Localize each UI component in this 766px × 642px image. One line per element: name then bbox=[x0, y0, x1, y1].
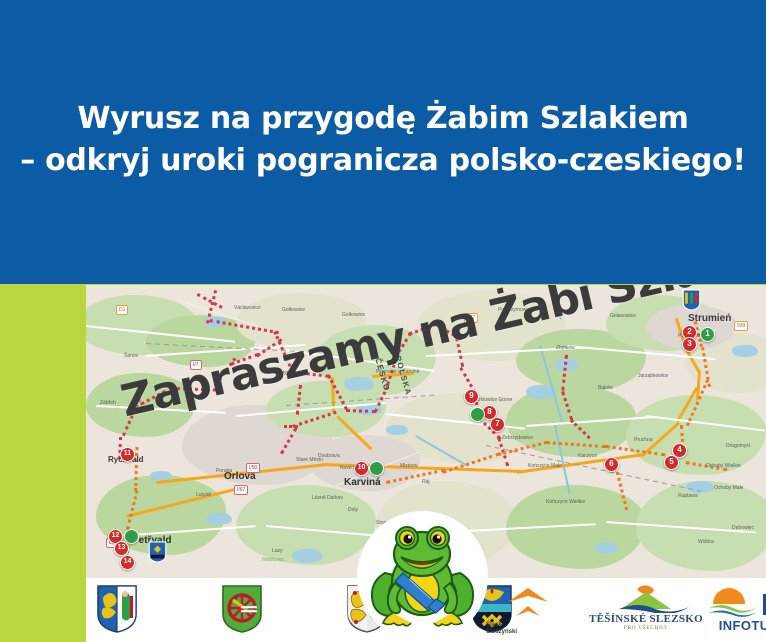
frog-icon bbox=[365, 521, 480, 633]
map-marker[interactable] bbox=[369, 461, 384, 476]
road-shield: D1 bbox=[116, 305, 128, 315]
map-label-place: Zbytków bbox=[556, 345, 575, 351]
headline-line-1: Wyrusz na przygodę Żabim Szlakiem bbox=[77, 101, 688, 136]
headline-line-2: – odkryj uroki pogranicza polsko-czeskie… bbox=[0, 140, 766, 182]
map-label-place: Staré Město bbox=[296, 457, 323, 463]
map-label-place: Gołkowice bbox=[282, 307, 305, 313]
map-label-place: Kończyce Małe bbox=[528, 463, 562, 469]
road-shield: I/50 bbox=[246, 463, 260, 473]
map-label-place: Ochaby Wielkie bbox=[706, 463, 741, 469]
map-label-place: Mizerov bbox=[400, 463, 418, 469]
map-water bbox=[386, 425, 408, 435]
green-accent-band bbox=[0, 284, 86, 642]
coat-of-arms-2-icon[interactable] bbox=[221, 584, 263, 634]
poster-root: Wyrusz na przygodę Żabim Szlakiem – odkr… bbox=[0, 0, 766, 642]
map-label-town: Strumień bbox=[688, 313, 731, 324]
eagle-mountain-icon bbox=[601, 583, 691, 613]
map-marker[interactable]: 10 bbox=[354, 461, 369, 476]
map-label-place: Ráj bbox=[422, 479, 430, 485]
map-label-place: Bąków bbox=[598, 385, 613, 391]
map-label-place: Dębowiec bbox=[732, 525, 754, 531]
map-label-place: Lutyně bbox=[196, 492, 211, 498]
map-label-place: Holotovec bbox=[262, 557, 284, 563]
map-label-place: Drogomyśl bbox=[726, 443, 750, 449]
map-label-place: Lázně Darkov bbox=[312, 495, 343, 501]
map-label-place: Lazy bbox=[272, 548, 283, 554]
map-label-place: Petrovice u Karviné bbox=[376, 369, 419, 375]
map-water bbox=[732, 345, 758, 357]
petrvald-coat-of-arms-icon bbox=[148, 541, 167, 563]
map-marker[interactable]: 1 bbox=[700, 327, 715, 342]
map-label-place: Pruchna bbox=[634, 437, 653, 443]
map-country-border bbox=[284, 425, 298, 428]
partner-logo-infotur[interactable]: INFOTUR bbox=[694, 584, 766, 633]
map-water bbox=[344, 377, 374, 391]
map-water bbox=[206, 513, 232, 525]
road-shield: 939 bbox=[734, 321, 748, 331]
map-label-place: Zebrzydowice bbox=[502, 435, 533, 441]
map-label-place: Ochaby Małe bbox=[714, 485, 743, 491]
map-label-place: Kończyce Wielkie bbox=[546, 499, 585, 505]
map-water bbox=[292, 549, 322, 563]
map-marker[interactable]: 14 bbox=[120, 555, 135, 570]
page-title: Wyrusz na przygodę Żabim Szlakiem – odkr… bbox=[0, 98, 766, 182]
map-marker[interactable]: 11 bbox=[120, 447, 135, 462]
map-water bbox=[594, 543, 618, 553]
map-label-place: Poruba bbox=[216, 468, 232, 474]
map-label-place: Václavovice bbox=[234, 305, 261, 311]
map-label-place: Wiślica bbox=[698, 539, 714, 545]
map-label-place: Jarząbkowice bbox=[638, 373, 668, 379]
frog-mascot-badge bbox=[357, 511, 488, 642]
infotur-label: INFOTUR bbox=[694, 618, 766, 633]
map-label-place: Ruptawa bbox=[678, 493, 698, 499]
map-marker[interactable] bbox=[470, 407, 485, 422]
map-label-place: Zábřeh bbox=[100, 400, 116, 406]
top-banner: Wyrusz na przygodę Żabim Szlakiem – odkr… bbox=[0, 0, 766, 284]
map-label-place: Šenov bbox=[124, 353, 138, 359]
map-marker[interactable]: 3 bbox=[682, 337, 697, 352]
map-label-place: Doly bbox=[348, 507, 358, 513]
map-marker[interactable]: 6 bbox=[604, 457, 619, 472]
map-marker[interactable]: 13 bbox=[114, 541, 129, 556]
map-label-town: Karviná bbox=[344, 477, 381, 488]
map-marker[interactable]: 9 bbox=[464, 389, 479, 404]
map-marker[interactable]: 5 bbox=[664, 455, 679, 470]
map-label-place: Golkowice bbox=[342, 312, 365, 318]
road-shield: I/67 bbox=[234, 485, 248, 495]
sun-wave-castle-icon bbox=[699, 584, 766, 618]
coat-of-arms-1-icon[interactable] bbox=[96, 584, 138, 634]
map-label-place: Kaczyce bbox=[578, 453, 597, 459]
